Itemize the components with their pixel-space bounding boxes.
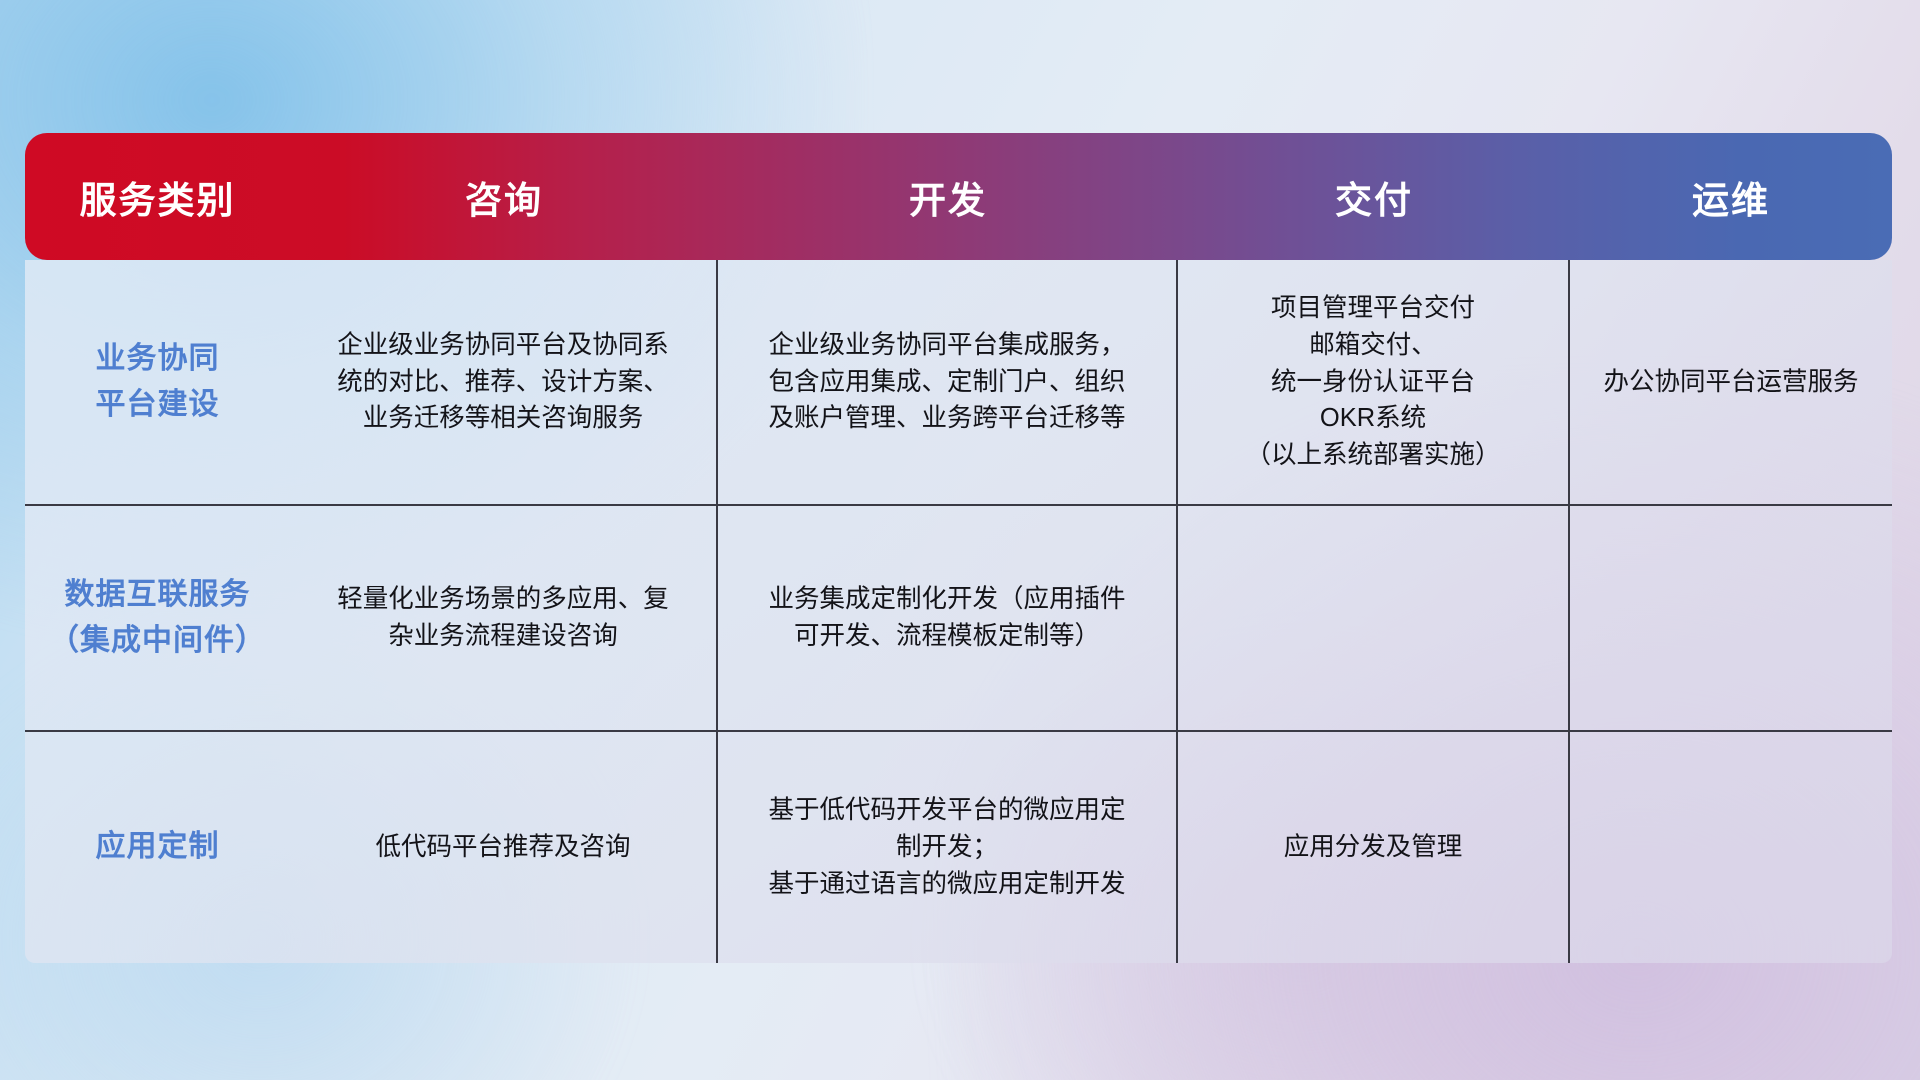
column-header-category: 服务类别	[25, 170, 290, 224]
row-category-label: 数据互联服务 （集成中间件）	[25, 506, 290, 732]
column-header-consulting: 咨询	[290, 170, 718, 224]
table-cell-development: 基于低代码开发平台的微应用定 制开发； 基于通过语言的微应用定制开发	[718, 732, 1178, 963]
service-matrix-table: 服务类别 咨询 开发 交付 运维 业务协同 平台建设 企业级业务协同平台及协同系…	[25, 133, 1892, 963]
column-header-development: 开发	[718, 170, 1178, 224]
table-grid: 业务协同 平台建设 企业级业务协同平台及协同系 统的对比、推荐、设计方案、 业务…	[25, 260, 1892, 963]
table-cell-operations	[1570, 732, 1892, 963]
table-cell-operations	[1570, 506, 1892, 732]
column-header-delivery: 交付	[1178, 170, 1570, 224]
table-cell-development: 业务集成定制化开发（应用插件 可开发、流程模板定制等）	[718, 506, 1178, 732]
table-cell-consulting: 低代码平台推荐及咨询	[290, 732, 718, 963]
table-cell-development: 企业级业务协同平台集成服务， 包含应用集成、定制门户、组织 及账户管理、业务跨平…	[718, 260, 1178, 506]
table-cell-delivery: 应用分发及管理	[1178, 732, 1570, 963]
table-cell-consulting: 企业级业务协同平台及协同系 统的对比、推荐、设计方案、 业务迁移等相关咨询服务	[290, 260, 718, 506]
row-category-label: 应用定制	[25, 732, 290, 963]
table-cell-operations: 办公协同平台运营服务	[1570, 260, 1892, 506]
column-header-operations: 运维	[1570, 170, 1892, 224]
table-cell-consulting: 轻量化业务场景的多应用、复 杂业务流程建设咨询	[290, 506, 718, 732]
row-category-label: 业务协同 平台建设	[25, 260, 290, 506]
table-header-row: 服务类别 咨询 开发 交付 运维	[25, 133, 1892, 260]
table-body-panel: 业务协同 平台建设 企业级业务协同平台及协同系 统的对比、推荐、设计方案、 业务…	[25, 260, 1892, 963]
table-cell-delivery	[1178, 506, 1570, 732]
table-cell-delivery: 项目管理平台交付 邮箱交付、 统一身份认证平台 OKR系统 （以上系统部署实施）	[1178, 260, 1570, 506]
